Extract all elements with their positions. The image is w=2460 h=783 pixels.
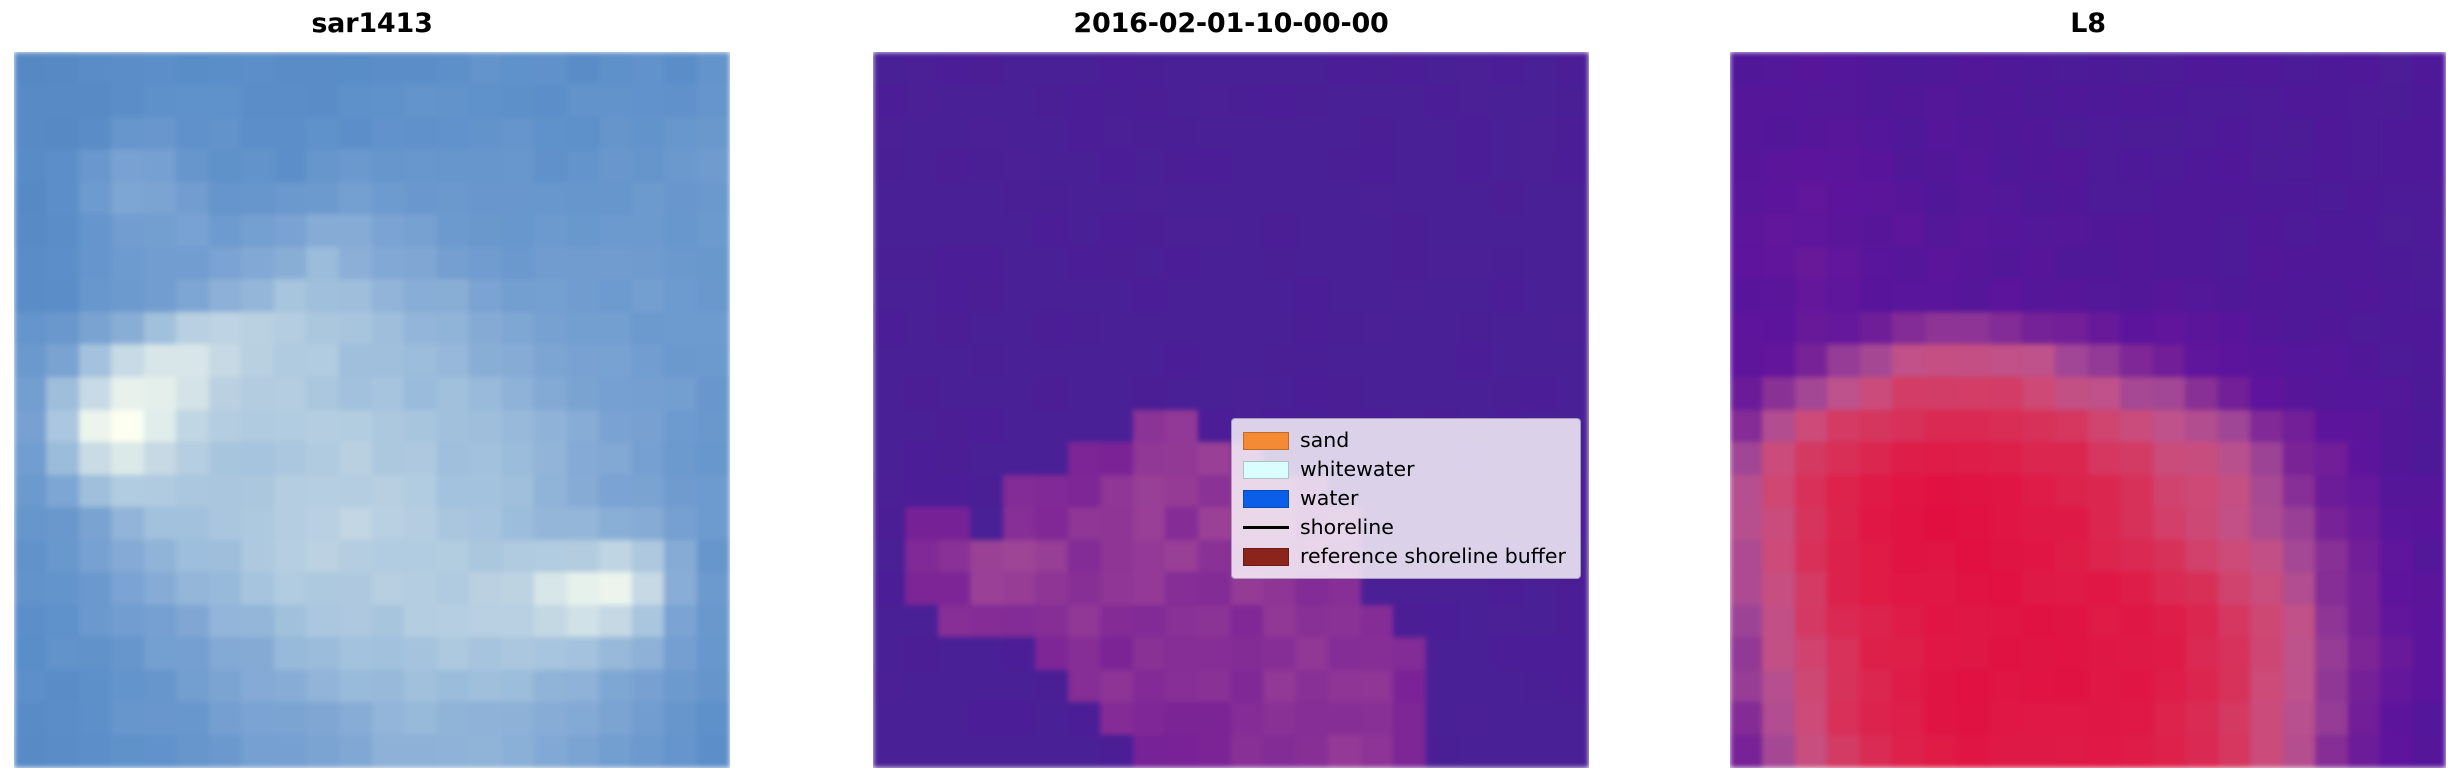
legend-label-water: water	[1300, 488, 1358, 509]
water-color-swatch-icon	[1243, 490, 1289, 508]
legend-label-whitewater: whitewater	[1300, 459, 1415, 480]
axes-classified[interactable]	[873, 52, 1589, 768]
legend-entry-water[interactable]: water	[1243, 484, 1570, 513]
panel-l8: L8	[1730, 0, 2446, 783]
axes-sar[interactable]	[14, 52, 730, 768]
legend-label-sand: sand	[1300, 430, 1349, 451]
panel-title-sar: sar1413	[14, 4, 730, 44]
panel-title-l8: L8	[1730, 4, 2446, 44]
panel-sar: sar1413	[14, 0, 730, 783]
heatmap-image-l8[interactable]	[1730, 52, 2446, 768]
legend-entry-sand[interactable]: sand	[1243, 426, 1570, 455]
legend-label-reference-shoreline-buffer: reference shoreline buffer	[1300, 546, 1566, 567]
panel-classified: 2016-02-01-10-00-00	[873, 0, 1589, 783]
legend-entry-shoreline[interactable]: shoreline	[1243, 513, 1570, 542]
shoreline-line-icon	[1243, 519, 1289, 537]
panel-title-classified: 2016-02-01-10-00-00	[873, 4, 1589, 44]
legend-label-shoreline: shoreline	[1300, 517, 1394, 538]
figure-canvas: sar1413 2016-02-01-10-00-00 L8 sand whit…	[0, 0, 2460, 783]
legend-entry-whitewater[interactable]: whitewater	[1243, 455, 1570, 484]
heatmap-image-classified[interactable]	[873, 52, 1589, 768]
heatmap-image-sar[interactable]	[14, 52, 730, 768]
legend-entry-reference-shoreline-buffer[interactable]: reference shoreline buffer	[1243, 542, 1570, 571]
map-legend[interactable]: sand whitewater water shoreline referenc…	[1231, 418, 1581, 579]
sand-color-swatch-icon	[1243, 432, 1289, 450]
axes-l8[interactable]	[1730, 52, 2446, 768]
whitewater-color-swatch-icon	[1243, 461, 1289, 479]
reference-shoreline-buffer-color-swatch-icon	[1243, 548, 1289, 566]
